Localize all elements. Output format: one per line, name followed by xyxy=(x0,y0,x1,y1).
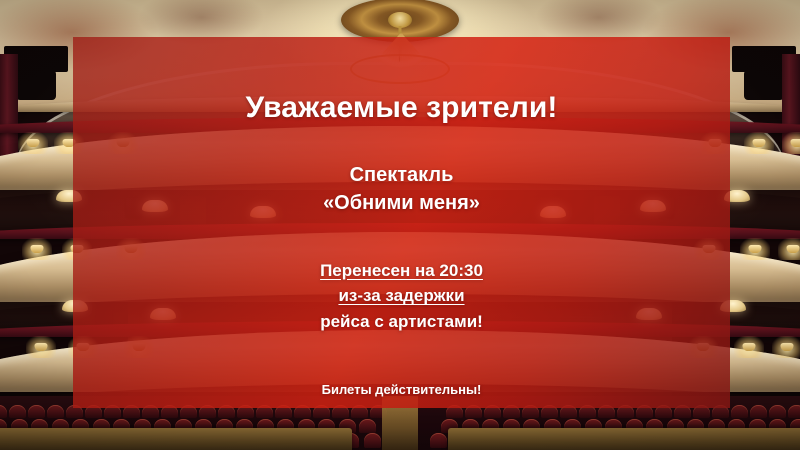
reschedule-line-3: рейса с артистами! xyxy=(320,309,483,335)
reschedule-line-2: из-за задержки xyxy=(320,283,483,309)
tickets-valid-note: Билеты действительны! xyxy=(322,382,482,397)
show-block: Спектакль «Обними меня» xyxy=(323,161,480,218)
reschedule-line-1: Перенесен на 20:30 xyxy=(320,258,483,284)
announcement-content: Уважаемые зрители! Спектакль «Обними мен… xyxy=(73,37,730,408)
show-label: Спектакль xyxy=(323,161,480,189)
announcement-headline: Уважаемые зрители! xyxy=(245,91,557,125)
show-title: «Обними меня» xyxy=(323,189,480,217)
reschedule-block: Перенесен на 20:30 из-за задержки рейса … xyxy=(320,258,483,335)
announcement-slide: Уважаемые зрители! Спектакль «Обними мен… xyxy=(0,0,800,450)
red-announcement-overlay: Уважаемые зрители! Спектакль «Обними мен… xyxy=(73,37,730,408)
